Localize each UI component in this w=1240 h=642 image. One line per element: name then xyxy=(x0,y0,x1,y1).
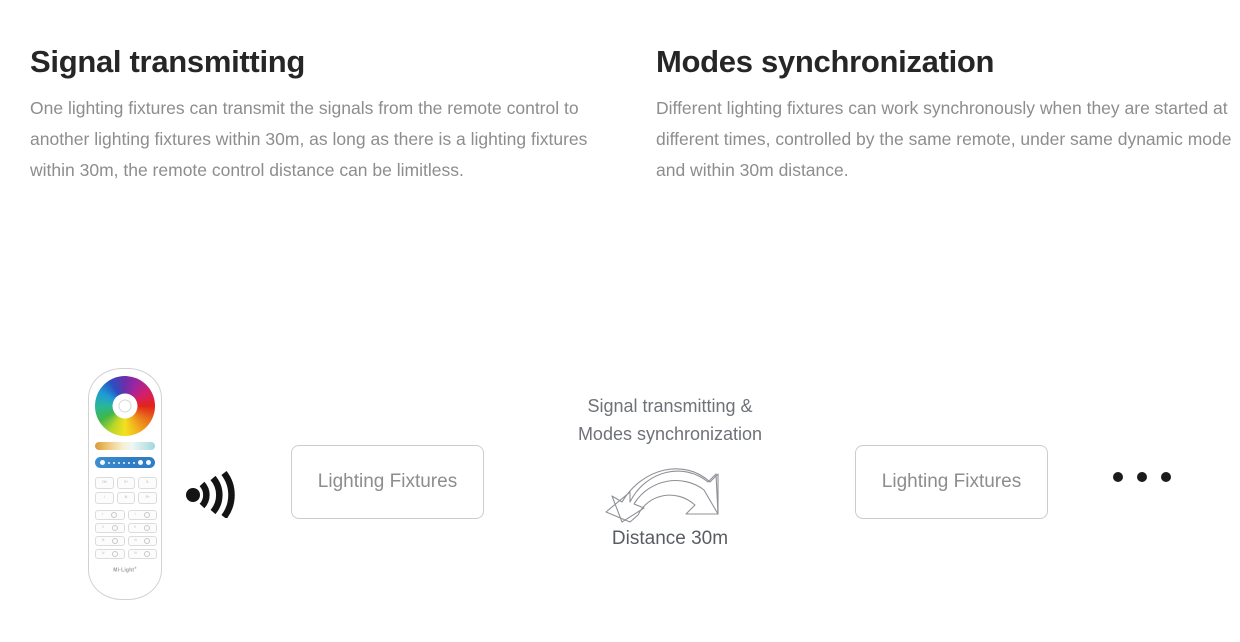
transfer-annotation-group: Signal transmitting & Modes synchronizat… xyxy=(520,392,820,552)
remote-control-device: ON S+ S- I M R+ I I II II III III IV IV … xyxy=(88,368,162,600)
diagram-illustration: ON S+ S- I M R+ I I II II III III IV IV … xyxy=(0,360,1240,610)
distance-label: Distance 30m xyxy=(520,526,820,552)
function-button-grid: ON S+ S- I M R+ xyxy=(95,477,157,504)
lighting-fixture-label: Lighting Fixtures xyxy=(882,471,1021,493)
power-icon xyxy=(144,525,150,531)
power-icon xyxy=(112,538,118,544)
lighting-fixture-box-left[interactable]: Lighting Fixtures xyxy=(291,445,484,519)
description-signal-transmitting: One lighting fixtures can transmit the s… xyxy=(30,93,610,186)
zone-label: III xyxy=(102,539,105,542)
remote-button[interactable]: ON xyxy=(95,477,114,489)
remote-button[interactable]: S- xyxy=(138,477,157,489)
dot xyxy=(1137,472,1147,482)
color-temperature-slider[interactable] xyxy=(95,442,155,450)
power-icon xyxy=(144,551,150,557)
zone-button[interactable]: III xyxy=(95,536,125,546)
power-icon xyxy=(144,512,150,518)
zone-button[interactable]: IV xyxy=(128,549,158,559)
page-title-signal-transmitting: Signal transmitting xyxy=(30,44,610,81)
lighting-fixture-label: Lighting Fixtures xyxy=(318,471,457,493)
zone-label: I xyxy=(102,513,103,516)
remote-button[interactable]: R+ xyxy=(138,492,157,504)
transfer-label-line1: Signal transmitting & xyxy=(520,392,820,420)
signal-waves-icon xyxy=(182,456,244,518)
zone-button[interactable]: II xyxy=(128,523,158,533)
zone-button[interactable]: II xyxy=(95,523,125,533)
zone-button[interactable]: I xyxy=(128,510,158,520)
remote-button[interactable]: I xyxy=(95,492,114,504)
zone-label: II xyxy=(134,526,136,529)
zone-button[interactable]: III xyxy=(128,536,158,546)
zone-button[interactable]: I xyxy=(95,510,125,520)
power-icon xyxy=(112,525,118,531)
page-title-modes-synchronization: Modes synchronization xyxy=(656,44,1236,81)
remote-button[interactable]: S+ xyxy=(117,477,136,489)
zone-label: II xyxy=(102,526,104,529)
power-icon xyxy=(144,538,150,544)
power-icon xyxy=(111,512,117,518)
bidirectional-curved-arrow-icon xyxy=(600,452,740,524)
color-wheel-knob[interactable] xyxy=(119,400,132,413)
zone-label: IV xyxy=(134,552,137,555)
remote-button[interactable]: M xyxy=(117,492,136,504)
zone-label: IV xyxy=(102,552,105,555)
brand-registered-mark: ® xyxy=(134,566,136,570)
dot xyxy=(1113,472,1123,482)
transfer-label-line2: Modes synchronization xyxy=(520,420,820,448)
color-wheel-icon[interactable] xyxy=(95,376,155,436)
ellipsis-continuation-dots xyxy=(1113,472,1171,482)
zone-button-grid: I I II II III III IV IV xyxy=(95,510,157,559)
brightness-slider[interactable] xyxy=(95,457,155,468)
power-icon xyxy=(112,551,118,557)
lighting-fixture-box-right[interactable]: Lighting Fixtures xyxy=(855,445,1048,519)
brand-logo: Mi·Light® xyxy=(95,566,155,574)
description-modes-synchronization: Different lighting fixtures can work syn… xyxy=(656,93,1236,186)
zone-label: III xyxy=(134,539,137,542)
dot xyxy=(1161,472,1171,482)
column-modes-synchronization: Modes synchronization Different lighting… xyxy=(656,44,1236,186)
column-signal-transmitting: Signal transmitting One lighting fixture… xyxy=(30,44,610,186)
zone-button[interactable]: IV xyxy=(95,549,125,559)
zone-label: I xyxy=(135,513,136,516)
brand-name: Mi·Light xyxy=(113,568,134,574)
